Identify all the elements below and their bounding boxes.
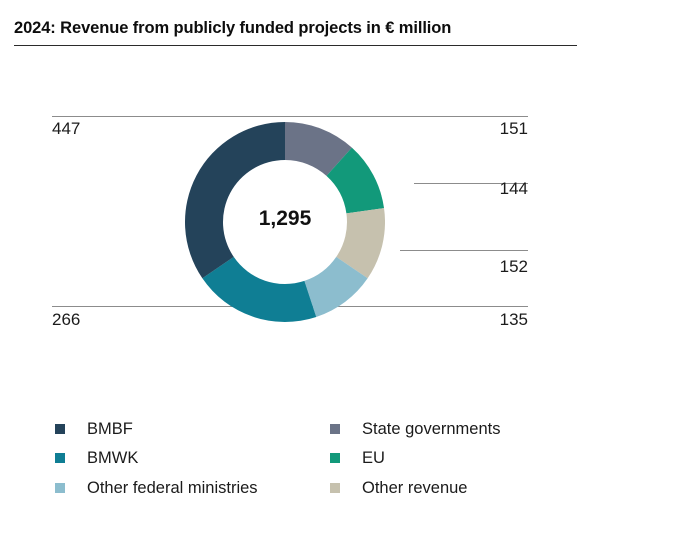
legend-swatch-icon xyxy=(330,424,340,434)
legend-label: Other revenue xyxy=(362,480,467,497)
donut-slice[interactable] xyxy=(202,257,316,322)
legend-swatch-icon xyxy=(55,483,65,493)
legend-item-bmwk[interactable]: BMWK xyxy=(55,444,258,474)
leader-line-other-revenue xyxy=(400,250,528,251)
value-label-other-federal-ministries: 135 xyxy=(428,311,528,328)
legend-item-bmbf[interactable]: BMBF xyxy=(55,414,258,444)
value-label-other-revenue: 152 xyxy=(428,258,528,275)
legend-item-other-federal-ministries[interactable]: Other federal ministries xyxy=(55,473,258,503)
legend-label: EU xyxy=(362,450,385,467)
legend-label: BMBF xyxy=(87,421,133,438)
legend-column-right: State governments EU Other revenue xyxy=(330,414,501,503)
donut-slice[interactable] xyxy=(185,122,285,278)
value-label-bmwk: 266 xyxy=(52,311,80,328)
legend-column-left: BMBF BMWK Other federal ministries xyxy=(55,414,258,503)
legend-item-other-revenue[interactable]: Other revenue xyxy=(330,473,501,503)
legend-label: Other federal ministries xyxy=(87,480,258,497)
legend-swatch-icon xyxy=(55,424,65,434)
legend-swatch-icon xyxy=(55,453,65,463)
legend-item-eu[interactable]: EU xyxy=(330,444,501,474)
legend-label: BMWK xyxy=(87,450,138,467)
donut-total-value: 1,295 xyxy=(185,208,385,229)
value-label-state-governments: 151 xyxy=(428,120,528,137)
legend-label: State governments xyxy=(362,421,501,438)
legend-item-state-governments[interactable]: State governments xyxy=(330,414,501,444)
legend-swatch-icon xyxy=(330,483,340,493)
value-label-eu: 144 xyxy=(428,180,528,197)
donut-chart: 447 266 151 144 152 135 1,295 xyxy=(0,0,676,380)
value-label-bmbf: 447 xyxy=(52,120,80,137)
legend-swatch-icon xyxy=(330,453,340,463)
leader-line-bmbf xyxy=(52,116,390,117)
leader-line-state xyxy=(390,116,528,117)
